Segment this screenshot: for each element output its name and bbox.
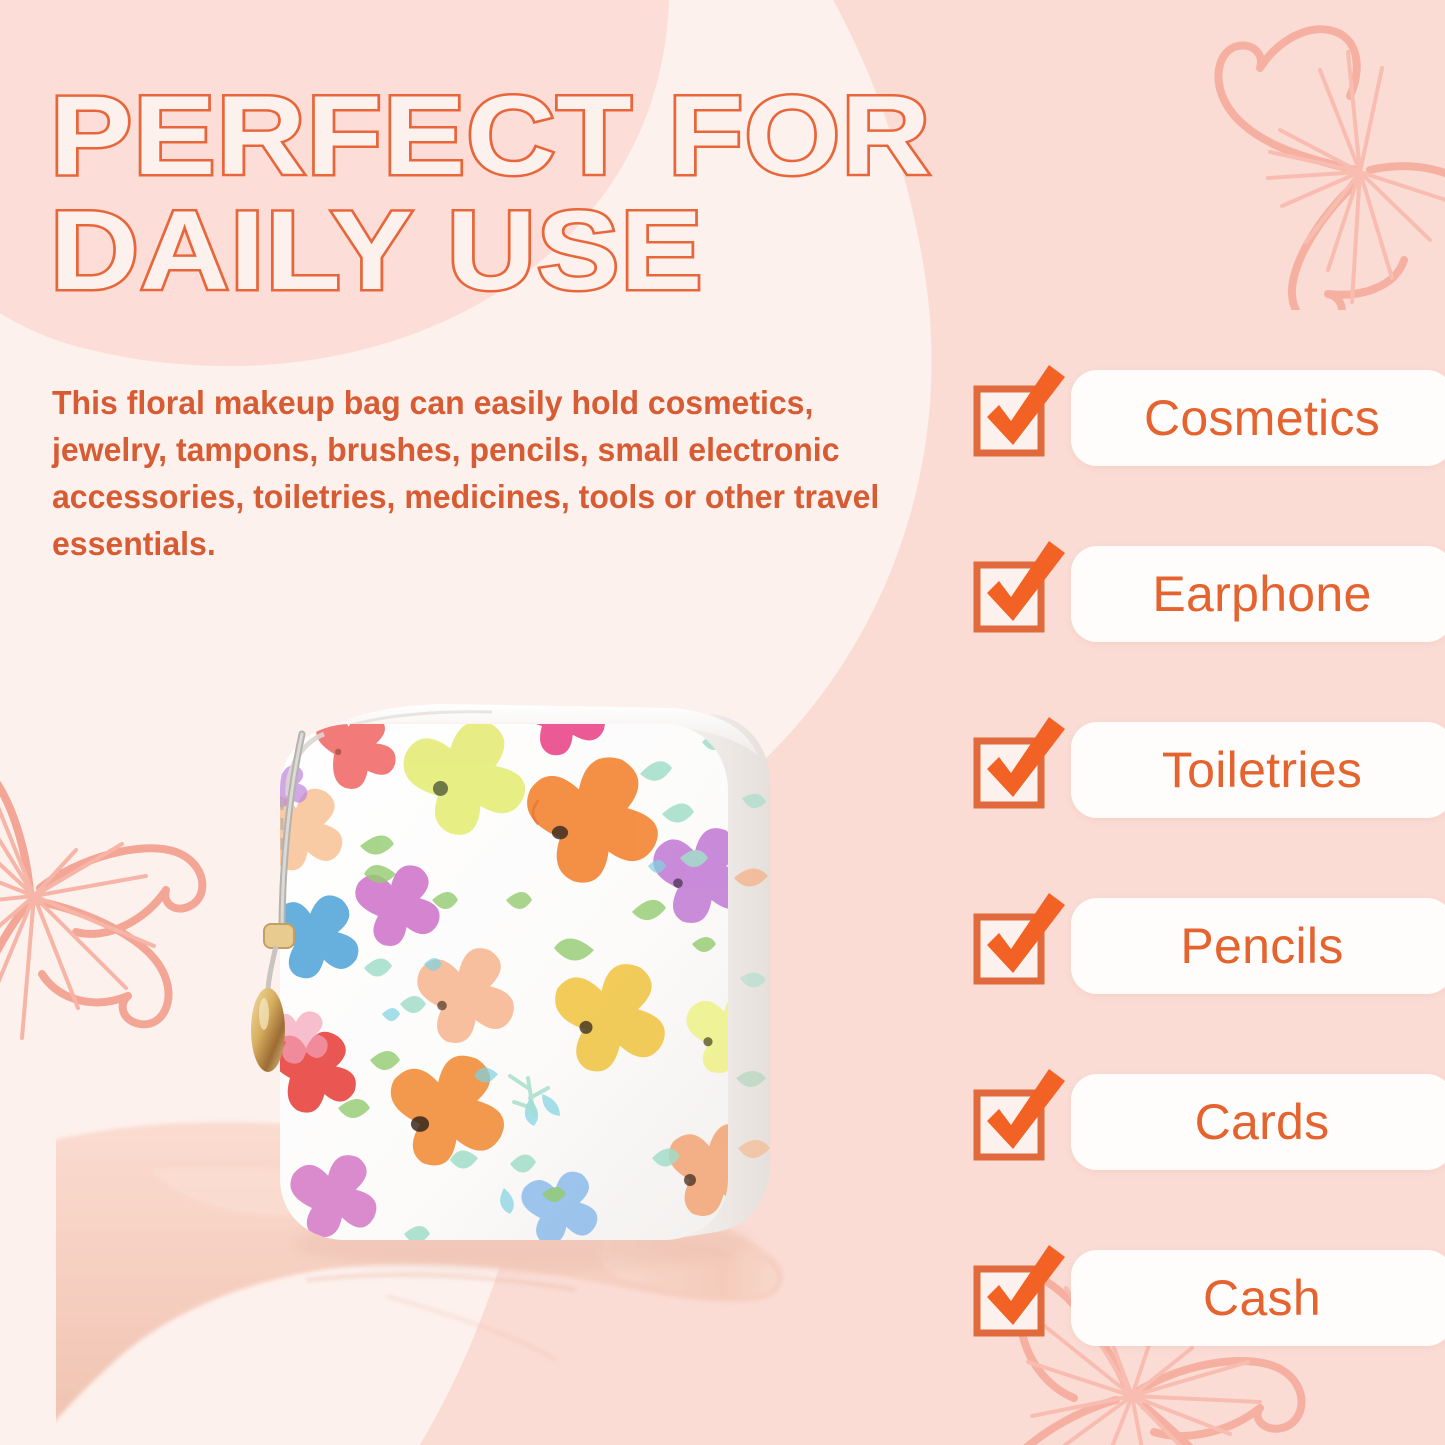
checklist-label: Cash [1203, 1269, 1321, 1327]
checklist-label: Toiletries [1162, 741, 1362, 799]
checklist-pill[interactable]: Cards [1071, 1074, 1445, 1170]
headline-line-1: PERFECT FOR [50, 78, 1073, 193]
checklist-pill[interactable]: Earphone [1071, 546, 1445, 642]
checklist-pill[interactable]: Pencils [1071, 898, 1445, 994]
checklist-item[interactable]: Toiletries [965, 682, 1435, 858]
checklist-item[interactable]: Earphone [965, 506, 1435, 682]
infographic-canvas: PERFECT FOR DAILY USE This floral makeup… [0, 0, 1445, 1445]
checklist-label: Pencils [1180, 917, 1343, 975]
checklist-label: Cards [1195, 1093, 1330, 1151]
checklist-item[interactable]: Pencils [965, 858, 1435, 1034]
checklist-label: Earphone [1152, 565, 1371, 623]
checklist-pill[interactable]: Cash [1071, 1250, 1445, 1346]
checkbox-checked-icon[interactable] [975, 1261, 1049, 1335]
description-paragraph: This floral makeup bag can easily hold c… [52, 380, 930, 567]
checkbox-checked-icon[interactable] [975, 1085, 1049, 1159]
headline: PERFECT FOR DAILY USE [50, 78, 980, 309]
product-image [196, 640, 836, 1440]
headline-line-2: DAILY USE [50, 193, 1073, 308]
feature-checklist: Cosmetics Earphone Toiletr [965, 330, 1435, 1386]
checkbox-checked-icon[interactable] [975, 909, 1049, 983]
checklist-pill[interactable]: Toiletries [1071, 722, 1445, 818]
checkbox-checked-icon[interactable] [975, 733, 1049, 807]
checklist-item[interactable]: Cash [965, 1210, 1435, 1386]
checklist-pill[interactable]: Cosmetics [1071, 370, 1445, 466]
checklist-item[interactable]: Cards [965, 1034, 1435, 1210]
checklist-label: Cosmetics [1144, 389, 1380, 447]
makeup-bag [242, 678, 802, 1278]
checkbox-checked-icon[interactable] [975, 557, 1049, 631]
checkbox-checked-icon[interactable] [975, 381, 1049, 455]
checklist-item[interactable]: Cosmetics [965, 330, 1435, 506]
